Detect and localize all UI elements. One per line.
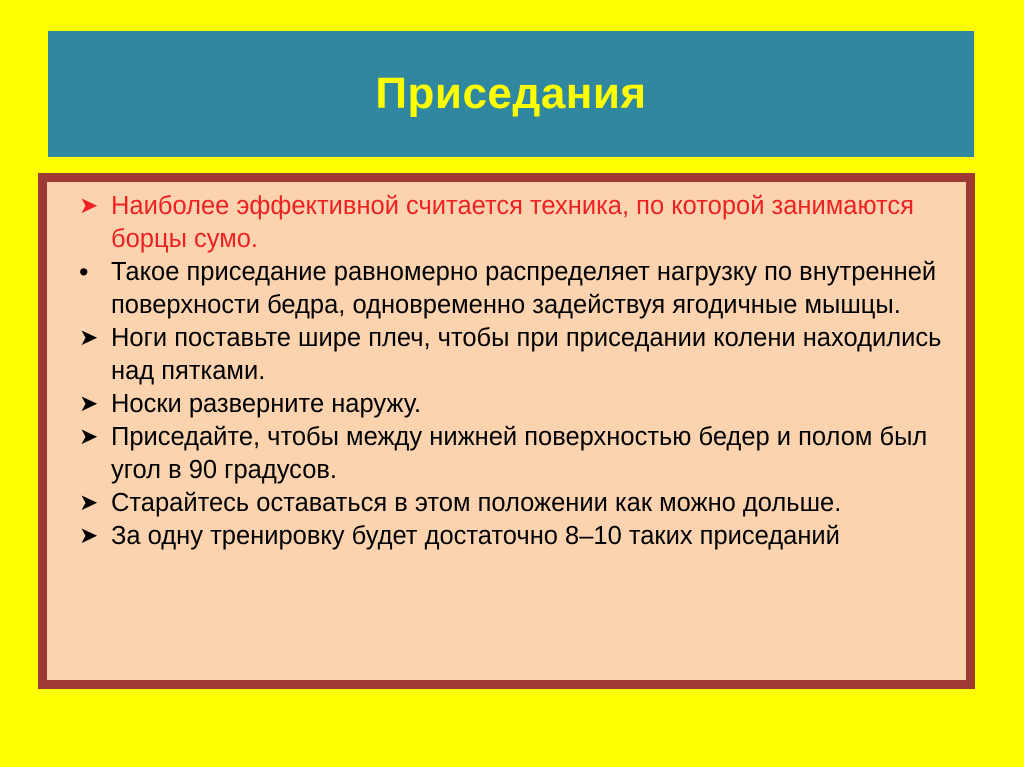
arrow-marker-icon: ➤ bbox=[79, 487, 105, 520]
list-item-text: Такое приседание равномерно распределяет… bbox=[111, 256, 952, 322]
dot-marker-icon: • bbox=[79, 256, 105, 289]
slide-canvas: Приседания ➤Наиболее эффективной считает… bbox=[0, 0, 1024, 767]
page-title: Приседания bbox=[375, 70, 646, 118]
list-item: ➤Старайтесь оставаться в этом положении … bbox=[61, 487, 952, 520]
arrow-marker-icon: ➤ bbox=[79, 520, 105, 553]
list-item-text: Приседайте, чтобы между нижней поверхнос… bbox=[111, 421, 952, 487]
list-item: ➤За одну тренировку будет достаточно 8–1… bbox=[61, 520, 952, 553]
list-item-text: Носки разверните наружу. bbox=[111, 388, 952, 421]
arrow-marker-icon: ➤ bbox=[79, 190, 105, 223]
list-item-text: Ноги поставьте шире плеч, чтобы при прис… bbox=[111, 322, 952, 388]
list-item-text: Наиболее эффективной считается техника, … bbox=[111, 190, 952, 256]
list-item-text: За одну тренировку будет достаточно 8–10… bbox=[111, 520, 952, 553]
bullet-list: ➤Наиболее эффективной считается техника,… bbox=[61, 190, 952, 553]
arrow-marker-icon: ➤ bbox=[79, 421, 105, 454]
content-panel: ➤Наиболее эффективной считается техника,… bbox=[38, 173, 975, 689]
arrow-marker-icon: ➤ bbox=[79, 322, 105, 355]
list-item: ➤Приседайте, чтобы между нижней поверхно… bbox=[61, 421, 952, 487]
list-item: ➤Наиболее эффективной считается техника,… bbox=[61, 190, 952, 256]
list-item: ➤Ноги поставьте шире плеч, чтобы при при… bbox=[61, 322, 952, 388]
slide-title-bar: Приседания bbox=[48, 31, 974, 157]
arrow-marker-icon: ➤ bbox=[79, 388, 105, 421]
list-item-text: Старайтесь оставаться в этом положении к… bbox=[111, 487, 952, 520]
list-item: •Такое приседание равномерно распределяе… bbox=[61, 256, 952, 322]
list-item: ➤Носки разверните наружу. bbox=[61, 388, 952, 421]
